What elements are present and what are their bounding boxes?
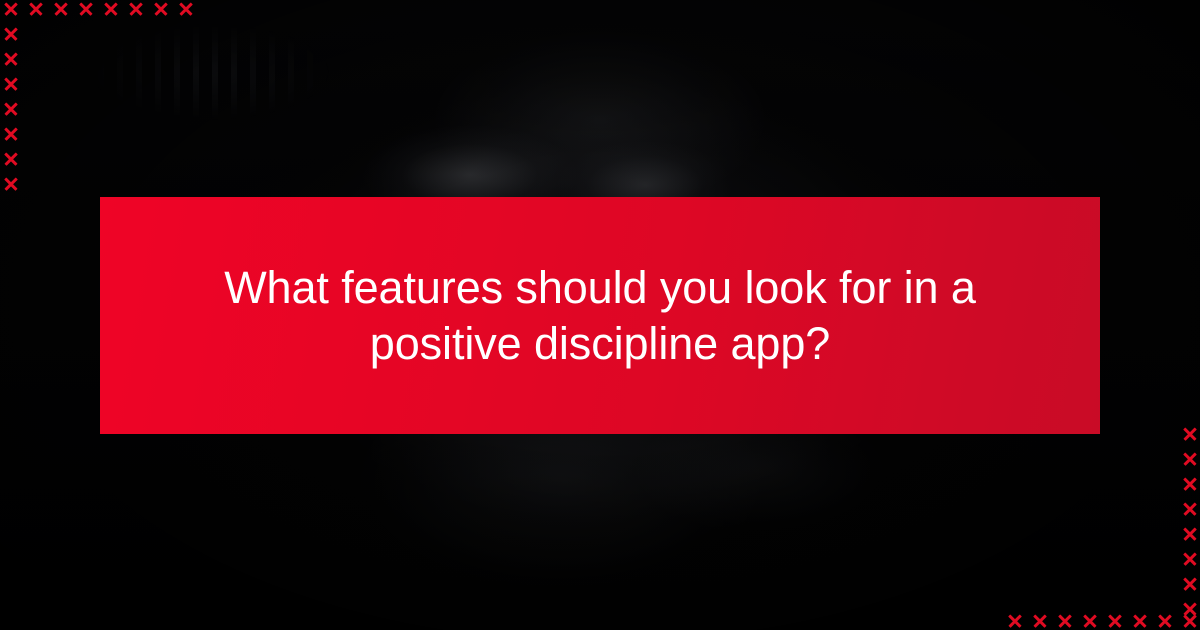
x-mark-icon (0, 46, 23, 71)
decoration-x-column-right (1177, 421, 1200, 621)
x-mark-icon (1177, 471, 1200, 496)
x-mark-icon (0, 0, 23, 21)
title-banner: What features should you look for in a p… (100, 197, 1100, 434)
x-mark-icon (1002, 608, 1027, 630)
x-mark-icon (0, 71, 23, 96)
x-mark-icon (1077, 608, 1102, 630)
x-mark-icon (98, 0, 123, 21)
x-mark-icon (1177, 521, 1200, 546)
x-mark-icon (0, 171, 23, 196)
x-mark-icon (1127, 608, 1152, 630)
x-mark-icon (23, 0, 48, 21)
decoration-x-row-bottom (1002, 608, 1200, 630)
x-mark-icon (1102, 608, 1127, 630)
x-mark-icon (1152, 608, 1177, 630)
x-mark-icon (0, 21, 23, 46)
x-mark-icon (0, 146, 23, 171)
x-mark-icon (48, 0, 73, 21)
x-mark-icon (148, 0, 173, 21)
x-mark-icon (1177, 496, 1200, 521)
x-mark-icon (1177, 446, 1200, 471)
x-mark-icon (73, 0, 98, 21)
page-title: What features should you look for in a p… (188, 260, 1012, 372)
decoration-x-column-left (0, 21, 23, 196)
decoration-x-row-top (0, 0, 198, 21)
x-mark-icon (1177, 421, 1200, 446)
x-mark-icon (1052, 608, 1077, 630)
x-mark-icon (1177, 571, 1200, 596)
x-mark-icon (1027, 608, 1052, 630)
social-share-card: What features should you look for in a p… (0, 0, 1200, 630)
x-mark-icon (0, 121, 23, 146)
x-mark-icon (0, 96, 23, 121)
x-mark-icon (123, 0, 148, 21)
x-mark-icon (1177, 608, 1200, 630)
x-mark-icon (1177, 546, 1200, 571)
x-mark-icon (173, 0, 198, 21)
